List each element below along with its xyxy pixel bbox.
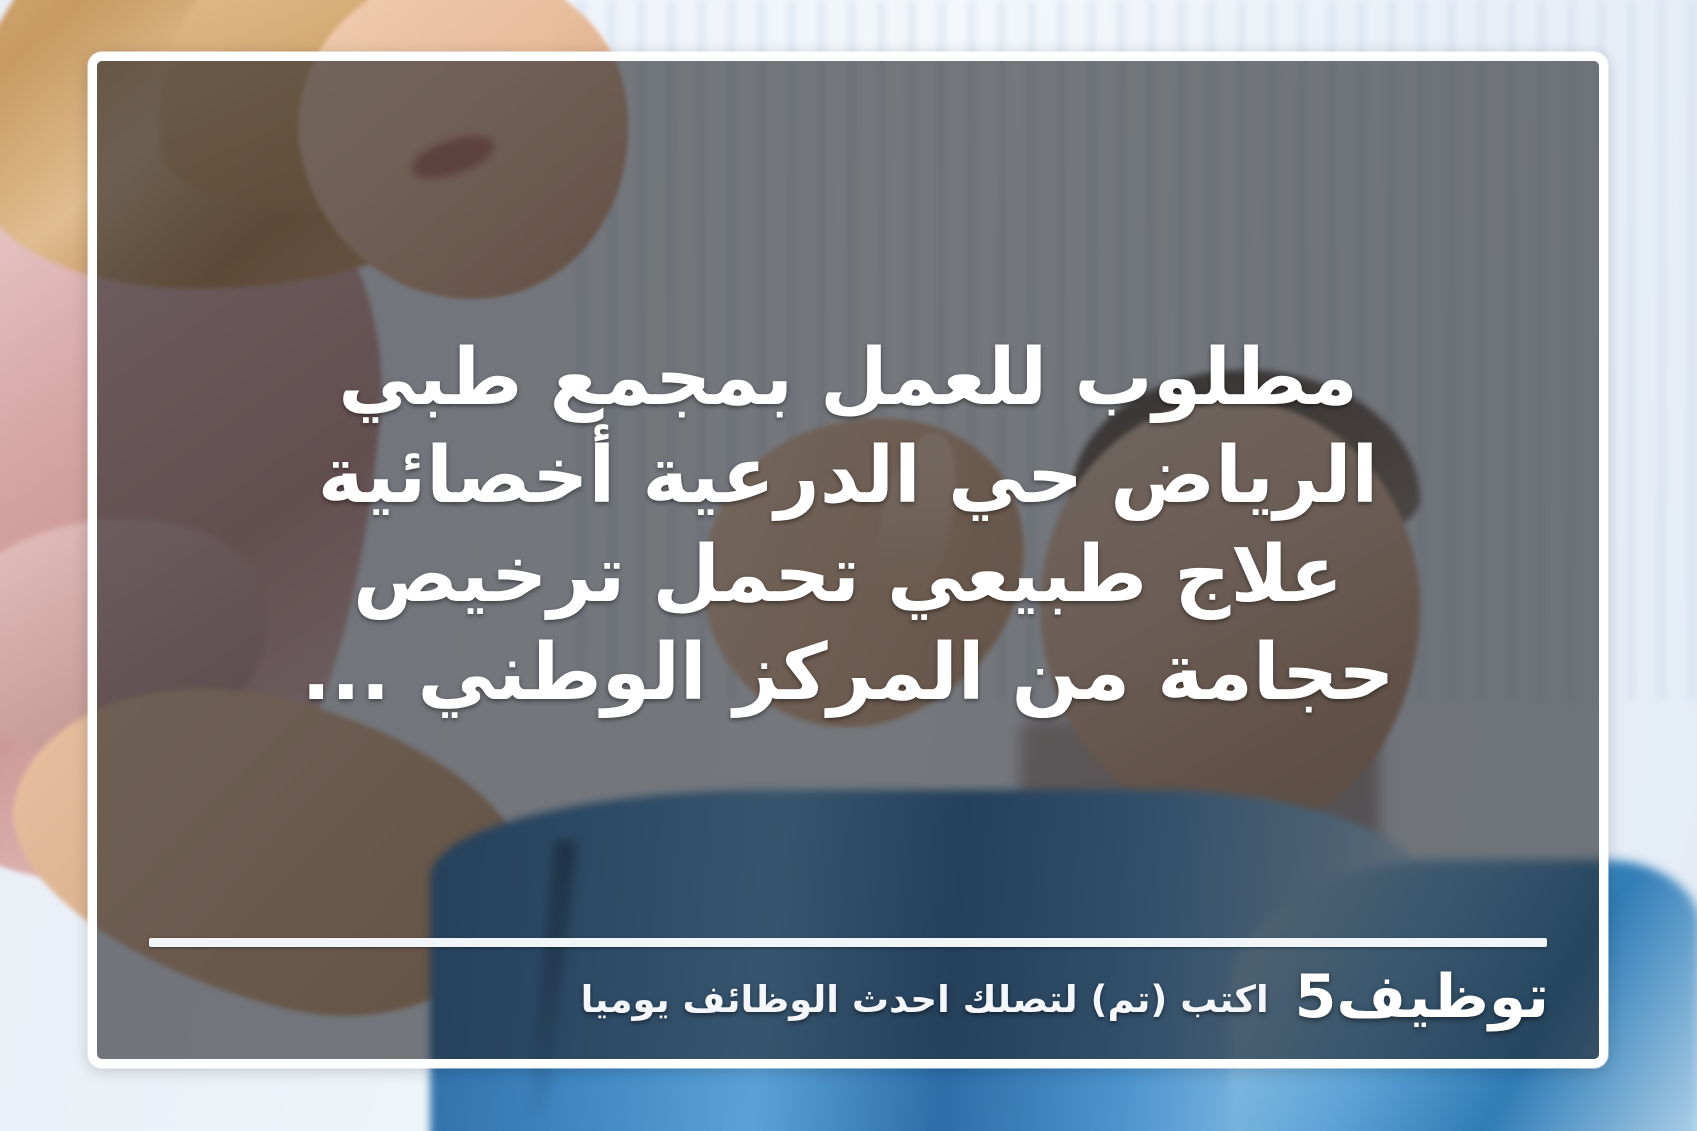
headline-line-3: علاج طبيعي تحمل ترخيص (353, 529, 1343, 621)
headline-line-2: الرياض حي الدرعية أخصائية (318, 430, 1379, 522)
footer-divider (149, 938, 1547, 947)
poster-canvas: مطلوب للعمل بمجمع طبي الرياض حي الدرعية … (0, 0, 1697, 1131)
headline-line-4: حجامة من المركز الوطني ... (301, 627, 1394, 719)
headline-block: مطلوب للعمل بمجمع طبي الرياض حي الدرعية … (143, 113, 1553, 938)
headline-line-1: مطلوب للعمل بمجمع طبي (338, 332, 1358, 424)
card-content: مطلوب للعمل بمجمع طبي الرياض حي الدرعية … (97, 61, 1599, 1059)
footer-tagline: اكتب (تم) لتصلك احدث الوظائف يوميا (581, 980, 1269, 1027)
brand-logo-text: توظيف5 (1295, 967, 1549, 1027)
job-ad-card: مطلوب للعمل بمجمع طبي الرياض حي الدرعية … (88, 52, 1608, 1068)
footer-bar: توظيف5 اكتب (تم) لتصلك احدث الوظائف يومي… (143, 967, 1553, 1037)
